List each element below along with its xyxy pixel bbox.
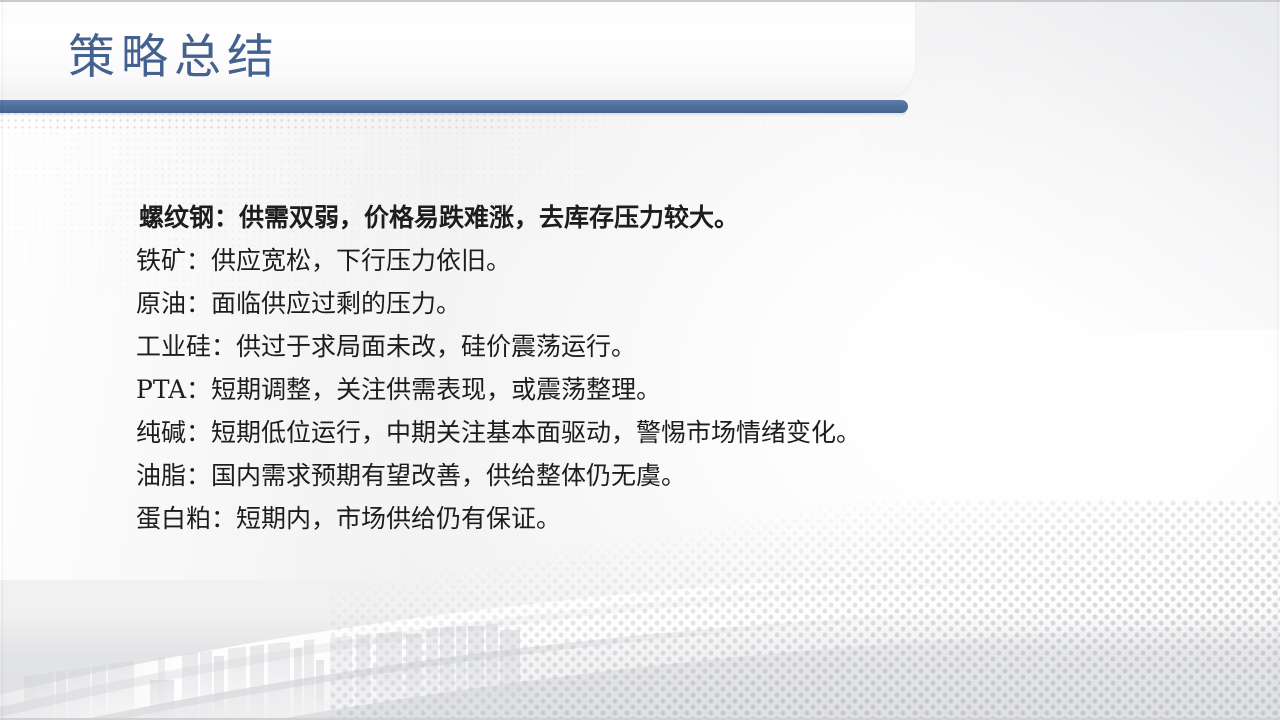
list-item: 纯碱：短期低位运行，中期关注基本面驱动，警惕市场情绪变化。 [136,411,1146,454]
header-accent-bar [0,100,908,113]
slide-top-border [0,0,1280,2]
page-title: 策略总结 [68,32,280,84]
summary-list: 螺纹钢：供需双弱，价格易跌难涨，去库存压力较大。 铁矿：供应宽松，下行压力依旧。… [136,196,1146,540]
list-item: 原油：面临供应过剩的压力。 [136,282,1146,325]
list-item: 工业硅：供过于求局面未改，硅价震荡运行。 [136,325,1146,368]
slide-right-border [1277,0,1278,720]
list-item: PTA：短期调整，关注供需表现，或震荡整理。 [136,368,1146,411]
slide-left-border [2,0,3,720]
list-item: 铁矿：供应宽松，下行压力依旧。 [136,239,1146,282]
list-item: 蛋白粕：短期内，市场供给仍有保证。 [136,497,1146,540]
list-item: 油脂：国内需求预期有望改善，供给整体仍无虞。 [136,454,1146,497]
slide-root: 策略总结 螺纹钢：供需双弱，价格易跌难涨，去库存压力较大。 铁矿：供应宽松，下行… [0,0,1280,720]
shanghai-skyline-silhouette-icon [0,530,520,720]
list-item: 螺纹钢：供需双弱，价格易跌难涨，去库存压力较大。 [136,196,1146,239]
